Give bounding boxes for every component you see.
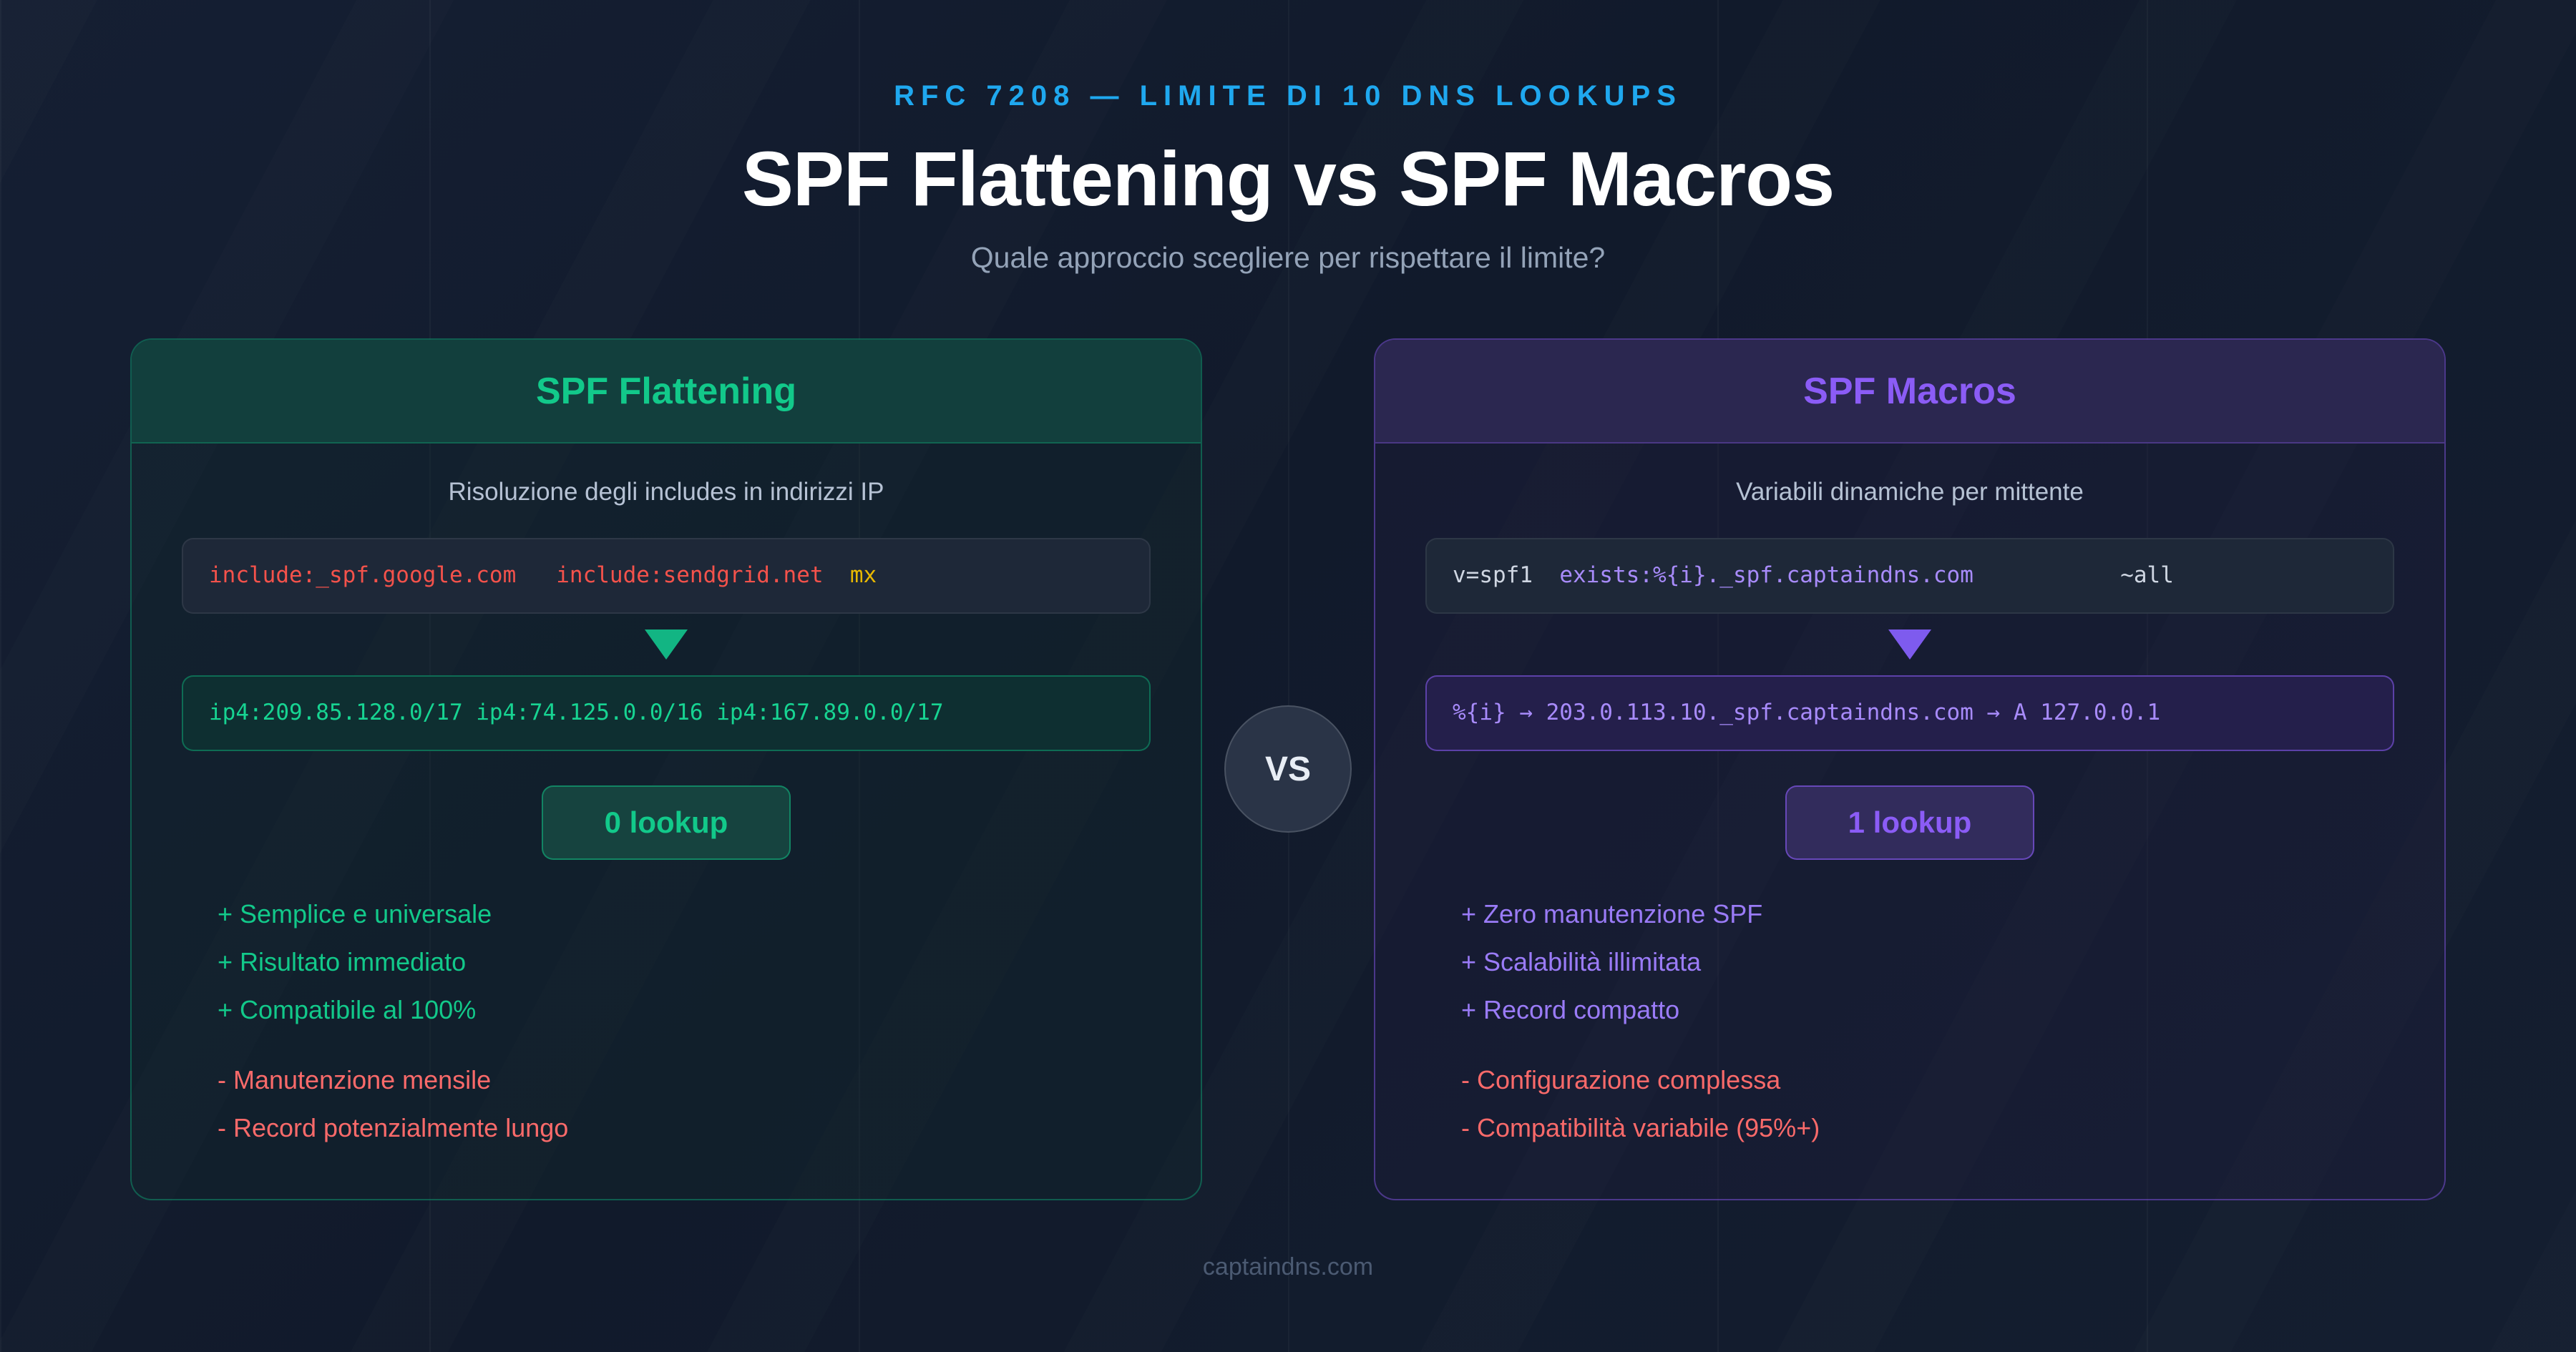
code-token: exists:%{i}._spf.captaindns.com: [1559, 562, 1974, 588]
code-token: [1974, 562, 2120, 588]
down-triangle-icon: [645, 630, 688, 660]
cons-list-flattening: - Manutenzione mensile- Record potenzial…: [218, 1067, 1151, 1141]
lookup-badge-wrap-flattening: 0 lookup: [182, 785, 1151, 860]
pros-cons-flattening: + Semplice e universale+ Risultato immed…: [182, 901, 1151, 1141]
list-item: + Record compatto: [1461, 997, 2394, 1023]
card-body-flattening: Risoluzione degli includes in indirizzi …: [132, 444, 1201, 1141]
code-token: ~all: [2120, 562, 2174, 588]
list-item: + Compatibile al 100%: [218, 997, 1151, 1023]
card-body-macros: Variabili dinamiche per mittente v=spf1 …: [1375, 444, 2444, 1141]
card-spf-macros: SPF Macros Variabili dinamiche per mitte…: [1374, 338, 2446, 1200]
code-block-output-macros: %{i} → 203.0.113.10._spf.captaindns.com …: [1425, 675, 2394, 751]
list-item: - Manutenzione mensile: [218, 1067, 1151, 1093]
list-item: - Record potenzialmente lungo: [218, 1115, 1151, 1141]
list-item: - Configurazione complessa: [1461, 1067, 2394, 1093]
cons-list-macros: - Configurazione complessa- Compatibilit…: [1461, 1067, 2394, 1141]
card-header-flattening: SPF Flattening: [132, 340, 1201, 444]
code-token: [1533, 562, 1559, 588]
footer-source: captaindns.com: [0, 1253, 2576, 1281]
card-tagline-flattening: Risoluzione degli includes in indirizzi …: [182, 478, 1151, 506]
page-subtitle: Quale approccio scegliere per rispettare…: [0, 241, 2576, 275]
list-item: + Zero manutenzione SPF: [1461, 901, 2394, 927]
infographic-page: RFC 7208 — LIMITE DI 10 DNS LOOKUPS SPF …: [0, 0, 2576, 1352]
pros-list-flattening: + Semplice e universale+ Risultato immed…: [218, 901, 1151, 1023]
list-item: + Semplice e universale: [218, 901, 1151, 927]
list-item: - Compatibilità variabile (95%+): [1461, 1115, 2394, 1141]
lookup-badge-macros: 1 lookup: [1785, 785, 2035, 860]
page-header: RFC 7208 — LIMITE DI 10 DNS LOOKUPS SPF …: [0, 0, 2576, 275]
card-title-flattening: SPF Flattening: [536, 370, 796, 413]
card-tagline-macros: Variabili dinamiche per mittente: [1425, 478, 2394, 506]
code-token: include:_spf.google.com: [209, 562, 516, 588]
down-triangle-icon: [1888, 630, 1931, 660]
code-token: [516, 562, 556, 588]
code-block-output-flattening: ip4:209.85.128.0/17 ip4:74.125.0.0/16 ip…: [182, 675, 1151, 751]
pros-list-macros: + Zero manutenzione SPF+ Scalabilità ill…: [1461, 901, 2394, 1023]
list-item: + Scalabilità illimitata: [1461, 949, 2394, 975]
lookup-badge-flattening: 0 lookup: [542, 785, 791, 860]
code-block-input-flattening: include:_spf.google.com include:sendgrid…: [182, 538, 1151, 614]
header-kicker: RFC 7208 — LIMITE DI 10 DNS LOOKUPS: [0, 80, 2576, 112]
page-title: SPF Flattening vs SPF Macros: [0, 138, 2576, 220]
vs-badge: VS: [1224, 705, 1352, 833]
list-item: + Risultato immediato: [218, 949, 1151, 975]
code-token: [824, 562, 850, 588]
code-token: include:sendgrid.net: [556, 562, 823, 588]
card-header-macros: SPF Macros: [1375, 340, 2444, 444]
code-token: mx: [850, 562, 877, 588]
card-spf-flattening: SPF Flattening Risoluzione degli include…: [130, 338, 1202, 1200]
code-block-input-macros: v=spf1 exists:%{i}._spf.captaindns.com ~…: [1425, 538, 2394, 614]
pros-cons-macros: + Zero manutenzione SPF+ Scalabilità ill…: [1425, 901, 2394, 1141]
vs-badge-label: VS: [1265, 750, 1311, 789]
card-title-macros: SPF Macros: [1803, 370, 2016, 413]
code-token: v=spf1: [1453, 562, 1533, 588]
lookup-badge-wrap-macros: 1 lookup: [1425, 785, 2394, 860]
